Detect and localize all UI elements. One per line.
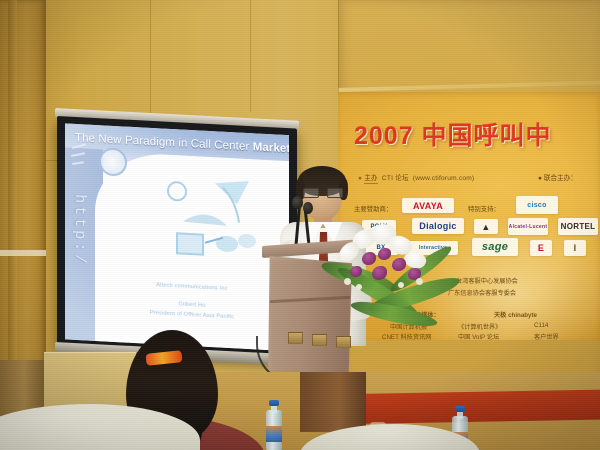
flower-bud — [344, 278, 351, 285]
flower-bud — [398, 282, 404, 288]
orchid-petal — [392, 258, 406, 271]
conference-photo: 2007 中国呼叫中 ● 主办 CTI 论坛 (www.ctiforum.com… — [0, 0, 600, 450]
floral-arrangement — [326, 222, 466, 350]
banner-organizer-row: ● 主办 CTI 论坛 (www.ctiforum.com) — [358, 172, 474, 182]
slide-url-vertical: http:/ — [71, 194, 88, 267]
water-bottle — [266, 400, 282, 450]
wooden-desk-panel — [300, 372, 366, 432]
slide-logo-icon — [99, 147, 127, 176]
microphone-icon — [292, 196, 303, 209]
coorganizer-label: 联合主办： — [544, 175, 577, 182]
special-support-label: 特别支持： — [468, 204, 500, 213]
sponsor-logo-nortel: NORTEL — [558, 218, 598, 235]
bottle-cap — [269, 400, 279, 406]
sponsor-logo-alcatel-lucent: Alcatel-Lucent — [508, 218, 548, 235]
orchid-petal — [362, 252, 376, 265]
microphone-icon-2 — [303, 202, 313, 214]
projection-screen: The New Paradigm in Call Center Market: … — [57, 116, 297, 361]
sponsor-logo-sage: sage — [472, 238, 518, 256]
wall-seam — [250, 0, 251, 112]
sponsor-logo-cisco: cisco — [516, 196, 558, 214]
flower-bud — [356, 284, 362, 290]
flower-bud — [416, 278, 423, 285]
bottle-cap — [455, 406, 465, 412]
slide-title-emphasis: Market: — [253, 141, 289, 155]
sponsor-logo-e: E — [530, 240, 552, 256]
banner-title: 2007 中国呼叫中 — [354, 116, 552, 152]
banner-coorganizer-row: ● 联合主办： — [538, 172, 577, 182]
sponsor-logo-avaya: AVAYA — [402, 198, 454, 213]
bottle-label — [266, 426, 282, 442]
wall-seam — [338, 0, 339, 92]
speaker-glasses-icon — [303, 188, 341, 196]
sponsor-logo-i: I — [564, 240, 586, 256]
orchid-petal — [378, 248, 391, 260]
wall-left-notch — [0, 250, 46, 256]
organizer-name: CTI 论坛 — [382, 175, 409, 182]
media-item: 客户世界 — [534, 332, 559, 340]
sponsor-logo-aastra: ▲ — [474, 219, 498, 234]
media-item: C114 — [534, 322, 548, 329]
organizer-url: (www.ctiforum.com) — [413, 175, 474, 182]
projection-screen-surface: The New Paradigm in Call Center Market: … — [65, 123, 289, 351]
media-headline: 天极 chinabyte — [494, 310, 537, 319]
slide-artwork-icon — [153, 174, 271, 272]
slide-ray-decoration — [71, 142, 101, 184]
bullet-icon: ● — [538, 175, 542, 182]
